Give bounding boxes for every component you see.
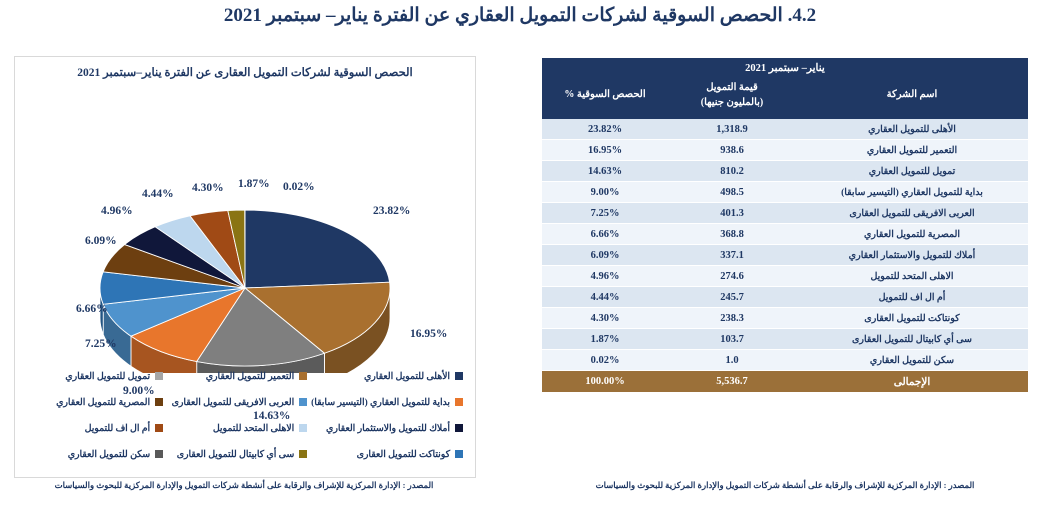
table-period-header-row: يناير– سبتمبر 2021 — [542, 58, 1028, 77]
legend-swatch-icon — [155, 372, 163, 380]
legend-swatch-icon — [455, 424, 463, 432]
pie-slice[interactable] — [245, 210, 390, 288]
legend-swatch-icon — [155, 398, 163, 406]
pie-percent-label: 7.25% — [85, 338, 117, 350]
legend-swatch-icon — [155, 450, 163, 458]
pie-chart-svg — [15, 83, 475, 373]
legend-swatch-icon — [299, 424, 307, 432]
pie-percent-label: 23.82% — [373, 205, 410, 217]
table-head: يناير– سبتمبر 2021 اسم الشركة قيمة التمو… — [542, 58, 1028, 119]
cell-share: 14.63% — [542, 161, 668, 182]
page-title: 4.2. الحصص السوقية لشركات التمويل العقار… — [0, 4, 1040, 27]
table-row: كونتاكت للتمويل العقارى238.34.30% — [542, 308, 1028, 329]
total-cell-value: 5,536.7 — [668, 371, 796, 393]
cell-name: الأهلى للتمويل العقاري — [796, 119, 1028, 140]
legend-label: الأهلى للتمويل العقاري — [364, 371, 450, 382]
legend-swatch-icon — [455, 398, 463, 406]
table-period-header: يناير– سبتمبر 2021 — [542, 58, 1028, 77]
cell-share: 4.30% — [542, 308, 668, 329]
legend-label: سى أي كابيتال للتمويل العقارى — [177, 449, 294, 460]
chart-panel: الحصص السوقية لشركات التمويل العقارى عن … — [14, 56, 476, 478]
legend-label: العربى الافريقى للتمويل العقارى — [172, 397, 295, 408]
table-row: الاهلى المتحد للتمويل274.64.96% — [542, 266, 1028, 287]
table-row: سكن للتمويل العقاري1.00.02% — [542, 350, 1028, 371]
col-header-amount-line2: (بالمليون جنيها) — [672, 96, 792, 111]
chart-legend: الأهلى للتمويل العقاريالتعمير للتمويل ال… — [23, 363, 467, 467]
col-header-company-line1: اسم الشركة — [800, 88, 1024, 103]
legend-item[interactable]: أملاك للتمويل والاستثمار العقاري — [311, 415, 467, 441]
col-header-company: اسم الشركة — [796, 77, 1028, 119]
cell-value: 1,318.9 — [668, 119, 796, 140]
cell-share: 6.09% — [542, 245, 668, 266]
legend-label: تمويل للتمويل العقاري — [65, 371, 150, 382]
pie-percent-label: 4.30% — [192, 182, 224, 194]
legend-item[interactable]: العربى الافريقى للتمويل العقارى — [167, 389, 311, 415]
table-row: المصرية للتمويل العقاري368.86.66% — [542, 224, 1028, 245]
cell-name: تمويل للتمويل العقاري — [796, 161, 1028, 182]
cell-name: الاهلى المتحد للتمويل — [796, 266, 1028, 287]
table-row: أملاك للتمويل والاستثمار العقاري337.16.0… — [542, 245, 1028, 266]
legend-item[interactable]: سكن للتمويل العقاري — [23, 441, 167, 467]
legend-swatch-icon — [455, 450, 463, 458]
total-cell-share: 100.00% — [542, 371, 668, 393]
cell-value: 103.7 — [668, 329, 796, 350]
pie-top-faces — [100, 210, 390, 366]
cell-value: 498.5 — [668, 182, 796, 203]
legend-label: كونتاكت للتمويل العقارى — [357, 449, 450, 460]
cell-value: 238.3 — [668, 308, 796, 329]
cell-value: 368.8 — [668, 224, 796, 245]
cell-name: أم ال اف للتمويل — [796, 287, 1028, 308]
table-total-row: الإجمالى5,536.7100.00% — [542, 371, 1028, 393]
legend-item[interactable]: كونتاكت للتمويل العقارى — [311, 441, 467, 467]
cell-name: كونتاكت للتمويل العقارى — [796, 308, 1028, 329]
cell-value: 401.3 — [668, 203, 796, 224]
cell-name: أملاك للتمويل والاستثمار العقاري — [796, 245, 1028, 266]
cell-name: المصرية للتمويل العقاري — [796, 224, 1028, 245]
pie-percent-label: 1.87% — [238, 178, 270, 190]
table-row: سى أي كابيتال للتمويل العقارى103.71.87% — [542, 329, 1028, 350]
col-header-share: الحصص السوقية % — [542, 77, 668, 119]
table-row: بداية للتمويل العقاري (التيسير سابقا)498… — [542, 182, 1028, 203]
cell-name: التعمير للتمويل العقاري — [796, 140, 1028, 161]
cell-share: 7.25% — [542, 203, 668, 224]
pie-percent-label: 16.95% — [410, 328, 447, 340]
legend-label: الاهلى المتحد للتمويل — [213, 423, 294, 434]
legend-item[interactable]: سى أي كابيتال للتمويل العقارى — [167, 441, 311, 467]
source-note-left: المصدر : الإدارة المركزية للإشراف والرقا… — [14, 480, 474, 491]
table-row: العربى الافريقى للتمويل العقارى401.37.25… — [542, 203, 1028, 224]
report-page: 4.2. الحصص السوقية لشركات التمويل العقار… — [0, 0, 1040, 528]
legend-swatch-icon — [299, 398, 307, 406]
legend-label: أملاك للتمويل والاستثمار العقاري — [326, 423, 450, 434]
source-note-right: المصدر : الإدارة المركزية للإشراف والرقا… — [542, 480, 1028, 491]
pie-chart — [15, 83, 475, 373]
pie-percent-label: 6.66% — [76, 303, 108, 315]
cell-value: 1.0 — [668, 350, 796, 371]
market-share-table: يناير– سبتمبر 2021 اسم الشركة قيمة التمو… — [542, 58, 1028, 392]
cell-name: العربى الافريقى للتمويل العقارى — [796, 203, 1028, 224]
col-header-amount: قيمة التمويل (بالمليون جنيها) — [668, 77, 796, 119]
cell-name: سى أي كابيتال للتمويل العقارى — [796, 329, 1028, 350]
legend-label: أم ال اف للتمويل — [85, 423, 150, 434]
legend-swatch-icon — [155, 424, 163, 432]
legend-item[interactable]: أم ال اف للتمويل — [23, 415, 167, 441]
legend-label: المصرية للتمويل العقاري — [56, 397, 150, 408]
cell-value: 337.1 — [668, 245, 796, 266]
legend-swatch-icon — [299, 372, 307, 380]
cell-share: 23.82% — [542, 119, 668, 140]
legend-item[interactable]: المصرية للتمويل العقاري — [23, 389, 167, 415]
market-share-table-panel: يناير– سبتمبر 2021 اسم الشركة قيمة التمو… — [542, 58, 1028, 392]
legend-item[interactable]: التعمير للتمويل العقاري — [167, 363, 311, 389]
legend-item[interactable]: تمويل للتمويل العقاري — [23, 363, 167, 389]
legend-label: سكن للتمويل العقاري — [68, 449, 150, 460]
chart-title: الحصص السوقية لشركات التمويل العقارى عن … — [15, 65, 475, 79]
pie-percent-label: 0.02% — [283, 181, 315, 193]
legend-label: التعمير للتمويل العقاري — [206, 371, 294, 382]
legend-label: بداية للتمويل العقاري (التيسير سابقا) — [311, 397, 450, 408]
cell-value: 274.6 — [668, 266, 796, 287]
legend-swatch-icon — [299, 450, 307, 458]
table-row: الأهلى للتمويل العقاري1,318.923.82% — [542, 119, 1028, 140]
table-body: الأهلى للتمويل العقاري1,318.923.82%التعم… — [542, 119, 1028, 392]
table-column-header-row: اسم الشركة قيمة التمويل (بالمليون جنيها)… — [542, 77, 1028, 119]
cell-share: 16.95% — [542, 140, 668, 161]
cell-share: 4.44% — [542, 287, 668, 308]
pie-percent-label: 4.96% — [101, 205, 133, 217]
cell-share: 6.66% — [542, 224, 668, 245]
cell-value: 810.2 — [668, 161, 796, 182]
table-row: تمويل للتمويل العقاري810.214.63% — [542, 161, 1028, 182]
cell-value: 938.6 — [668, 140, 796, 161]
legend-item[interactable]: بداية للتمويل العقاري (التيسير سابقا) — [311, 389, 467, 415]
legend-item[interactable]: الأهلى للتمويل العقاري — [311, 363, 467, 389]
cell-name: بداية للتمويل العقاري (التيسير سابقا) — [796, 182, 1028, 203]
cell-share: 1.87% — [542, 329, 668, 350]
total-cell-name: الإجمالى — [796, 371, 1028, 393]
table-row: أم ال اف للتمويل245.74.44% — [542, 287, 1028, 308]
pie-percent-label: 6.09% — [85, 235, 117, 247]
pie-percent-label: 4.44% — [142, 188, 174, 200]
col-header-amount-line1: قيمة التمويل — [672, 81, 792, 96]
cell-value: 245.7 — [668, 287, 796, 308]
cell-share: 0.02% — [542, 350, 668, 371]
cell-name: سكن للتمويل العقاري — [796, 350, 1028, 371]
cell-share: 9.00% — [542, 182, 668, 203]
cell-share: 4.96% — [542, 266, 668, 287]
col-header-share-line1: الحصص السوقية % — [546, 88, 664, 103]
legend-item[interactable]: الاهلى المتحد للتمويل — [167, 415, 311, 441]
table-row: التعمير للتمويل العقاري938.616.95% — [542, 140, 1028, 161]
legend-swatch-icon — [455, 372, 463, 380]
